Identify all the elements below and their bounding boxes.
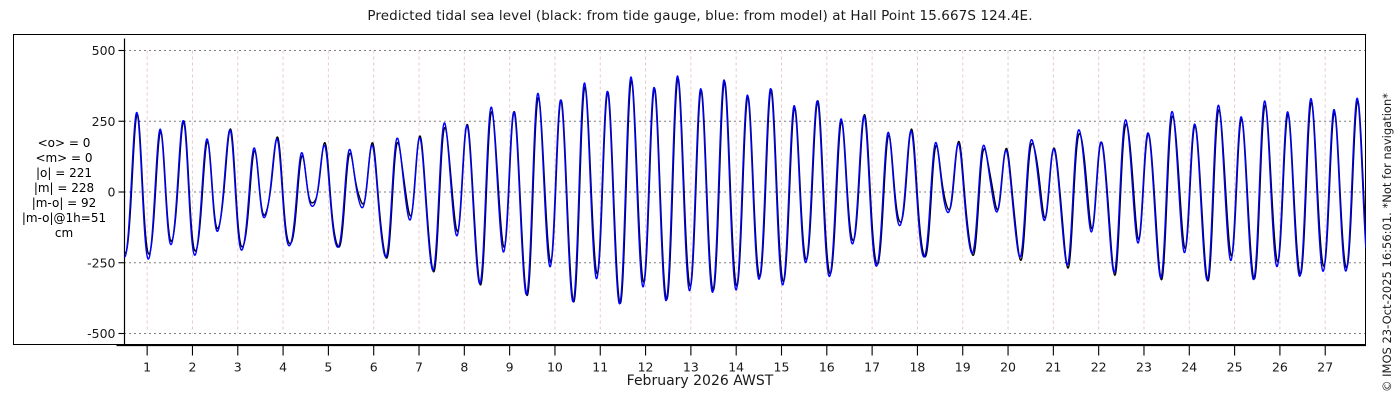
svg-text:0: 0 <box>108 185 116 200</box>
copyright-note: © IMOS 23-Oct-2025 16:56:01. *Not for na… <box>1377 0 1399 400</box>
tidal-chart-figure: Predicted tidal sea level (black: from t… <box>0 0 1400 400</box>
tidal-plot: 1234567891011121314151617181920212223242… <box>0 0 1400 400</box>
copyright-text: © IMOS 23-Oct-2025 16:56:01. *Not for na… <box>1380 93 1394 392</box>
x-axis-ticks: 1234567891011121314151617181920212223242… <box>143 346 1333 375</box>
svg-text:250: 250 <box>92 114 116 129</box>
svg-text:-250: -250 <box>87 255 115 270</box>
svg-text:-500: -500 <box>87 326 115 341</box>
vertical-gridlines <box>147 51 1325 334</box>
svg-text:500: 500 <box>92 43 116 58</box>
data-series <box>125 76 1366 304</box>
y-axis-ticks: 5002500-250-500 <box>87 43 124 341</box>
x-axis-label: February 2026 AWST <box>0 373 1400 389</box>
